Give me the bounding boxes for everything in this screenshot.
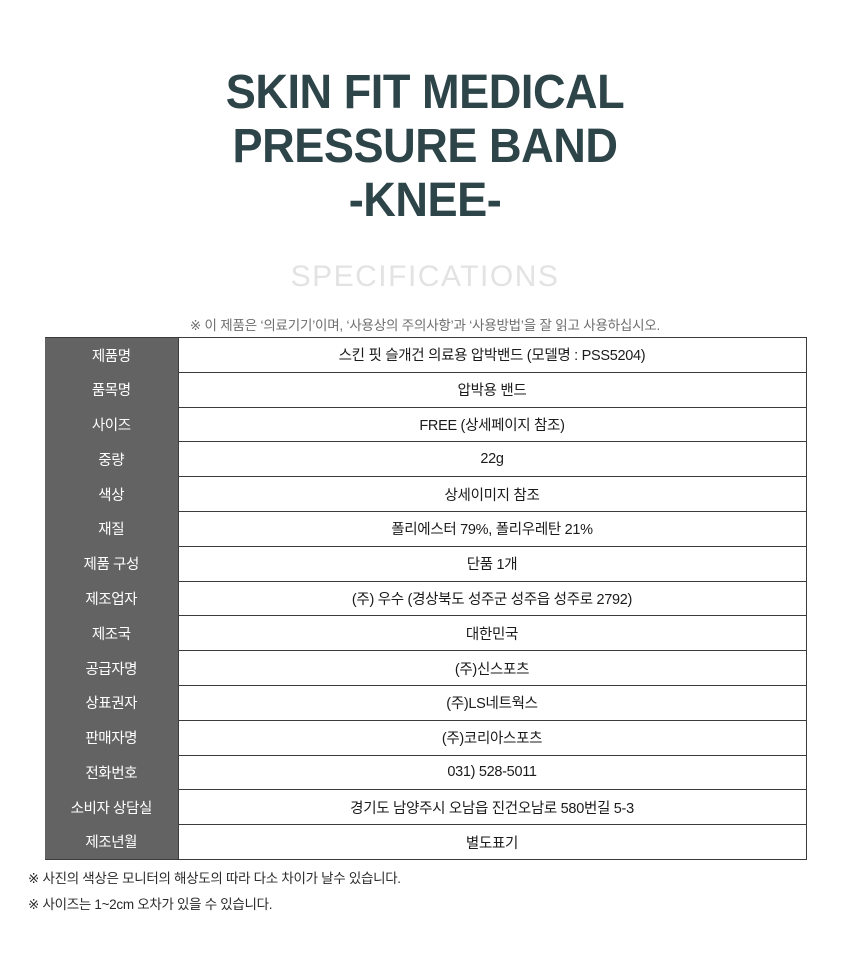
specifications-table-body: 제품명 스킨 핏 슬개건 의료용 압박밴드 (모델명 : PSS5204) 품목… <box>45 338 806 860</box>
footnote-size-disclaimer: ※ 사이즈는 1~2cm 오차가 있을 수 있습니다. <box>28 892 728 918</box>
spec-label: 중량 <box>45 442 178 477</box>
spec-value: 22g <box>178 442 806 477</box>
spec-label: 전화번호 <box>45 755 178 790</box>
spec-value: FREE (상세페이지 참조) <box>178 407 806 442</box>
table-row: 제품 구성 단품 1개 <box>45 546 806 581</box>
table-row: 사이즈 FREE (상세페이지 참조) <box>45 407 806 442</box>
table-row: 재질 폴리에스터 79%, 폴리우레탄 21% <box>45 511 806 546</box>
spec-label: 소비자 상담실 <box>45 790 178 825</box>
spec-value: 단품 1개 <box>178 546 806 581</box>
page-subtitle: SPECIFICATIONS <box>0 260 850 294</box>
table-row: 소비자 상담실 경기도 남양주시 오남읍 진건오남로 580번길 5-3 <box>45 790 806 825</box>
spec-label: 제조년월 <box>45 825 178 860</box>
table-row: 품목명 압박용 밴드 <box>45 372 806 407</box>
spec-label: 제조업자 <box>45 581 178 616</box>
table-row: 상표권자 (주)LS네트웍스 <box>45 685 806 720</box>
spec-label: 제품 구성 <box>45 546 178 581</box>
spec-label: 제조국 <box>45 616 178 651</box>
specifications-table: 제품명 스킨 핏 슬개건 의료용 압박밴드 (모델명 : PSS5204) 품목… <box>45 337 807 860</box>
spec-label: 판매자명 <box>45 720 178 755</box>
page-title-line-3: -KNEE- <box>26 174 825 228</box>
table-row: 색상 상세이미지 참조 <box>45 477 806 512</box>
spec-label: 상표권자 <box>45 685 178 720</box>
footnotes: ※ 사진의 색상은 모니터의 해상도의 따라 다소 차이가 날수 있습니다. ※… <box>28 866 728 918</box>
spec-label: 색상 <box>45 477 178 512</box>
spec-value: (주)코리아스포츠 <box>178 720 806 755</box>
spec-label: 재질 <box>45 511 178 546</box>
page-header: SKIN FIT MEDICAL PRESSURE BAND -KNEE- SP… <box>0 0 850 336</box>
spec-value: 폴리에스터 79%, 폴리우레탄 21% <box>178 511 806 546</box>
spec-label: 제품명 <box>45 338 178 373</box>
spec-value: 경기도 남양주시 오남읍 진건오남로 580번길 5-3 <box>178 790 806 825</box>
spec-value: 031) 528-5011 <box>178 755 806 790</box>
specifications-table-container: 제품명 스킨 핏 슬개건 의료용 압박밴드 (모델명 : PSS5204) 품목… <box>45 337 806 859</box>
spec-value: (주)신스포츠 <box>178 651 806 686</box>
spec-value: (주) 우수 (경상북도 성주군 성주읍 성주로 2792) <box>178 581 806 616</box>
spec-value: 대한민국 <box>178 616 806 651</box>
spec-label: 공급자명 <box>45 651 178 686</box>
spec-label: 사이즈 <box>45 407 178 442</box>
page-title-line-2: PRESSURE BAND <box>26 120 825 174</box>
spec-value: 별도표기 <box>178 825 806 860</box>
table-row: 제조국 대한민국 <box>45 616 806 651</box>
table-row: 중량 22g <box>45 442 806 477</box>
spec-label: 품목명 <box>45 372 178 407</box>
spec-sheet-page: SKIN FIT MEDICAL PRESSURE BAND -KNEE- SP… <box>0 0 850 964</box>
table-row: 공급자명 (주)신스포츠 <box>45 651 806 686</box>
table-row: 전화번호 031) 528-5011 <box>45 755 806 790</box>
medical-device-notice: ※ 이 제품은 ‘의료기기’이며, ‘사용상의 주의사항’과 ‘사용방법’을 잘… <box>0 316 850 336</box>
table-row: 제품명 스킨 핏 슬개건 의료용 압박밴드 (모델명 : PSS5204) <box>45 338 806 373</box>
spec-value: 압박용 밴드 <box>178 372 806 407</box>
page-title-line-1: SKIN FIT MEDICAL <box>26 66 825 120</box>
table-row: 제조업자 (주) 우수 (경상북도 성주군 성주읍 성주로 2792) <box>45 581 806 616</box>
spec-value: 스킨 핏 슬개건 의료용 압박밴드 (모델명 : PSS5204) <box>178 338 806 373</box>
footnote-color-disclaimer: ※ 사진의 색상은 모니터의 해상도의 따라 다소 차이가 날수 있습니다. <box>28 866 728 892</box>
table-row: 판매자명 (주)코리아스포츠 <box>45 720 806 755</box>
spec-value: (주)LS네트웍스 <box>178 685 806 720</box>
page-title: SKIN FIT MEDICAL PRESSURE BAND -KNEE- <box>0 66 850 228</box>
spec-value: 상세이미지 참조 <box>178 477 806 512</box>
table-row: 제조년월 별도표기 <box>45 825 806 860</box>
